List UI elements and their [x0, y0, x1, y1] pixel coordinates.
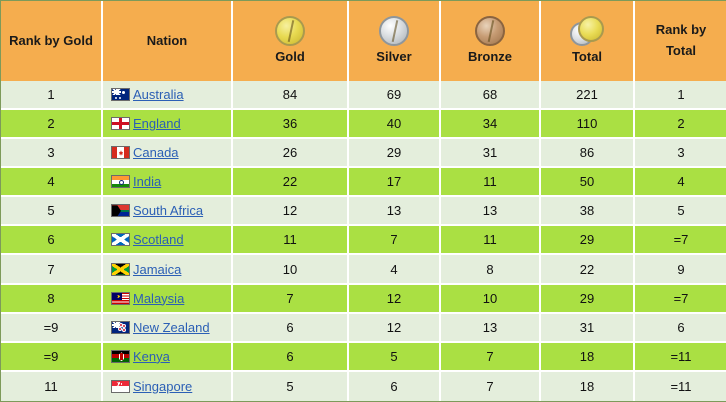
cell-total: 38	[541, 197, 635, 226]
cell-nation: South Africa	[103, 197, 233, 226]
column-header-rank-by-total-label: Rank by Total	[639, 20, 723, 62]
cell-nation: Singapore	[103, 372, 233, 401]
column-header-gold[interactable]: Gold	[233, 1, 349, 81]
table-row: 6Scotland1171129=7	[1, 226, 726, 255]
cell-rank-by-gold: 5	[1, 197, 103, 226]
column-header-nation[interactable]: Nation	[103, 1, 233, 81]
nation-link[interactable]: Jamaica	[133, 262, 181, 277]
cell-rank-by-gold: 2	[1, 110, 103, 139]
table-row: 3Canada262931863	[1, 139, 726, 168]
column-header-silver[interactable]: Silver	[349, 1, 441, 81]
cell-total: 29	[541, 226, 635, 255]
cell-bronze: 11	[441, 168, 541, 197]
cell-silver: 12	[349, 314, 441, 343]
cell-gold: 26	[233, 139, 349, 168]
cell-gold: 84	[233, 81, 349, 110]
nation-link[interactable]: New Zealand	[133, 320, 210, 335]
cell-nation: Jamaica	[103, 255, 233, 284]
cell-bronze: 7	[441, 343, 541, 372]
scotland-flag-icon	[111, 233, 130, 246]
cell-rank-by-total: =11	[635, 343, 726, 372]
cell-rank-by-gold: 4	[1, 168, 103, 197]
cell-gold: 6	[233, 343, 349, 372]
cell-silver: 5	[349, 343, 441, 372]
table-row: 7Jamaica1048229	[1, 255, 726, 284]
cell-nation: India	[103, 168, 233, 197]
cell-total: 22	[541, 255, 635, 284]
cell-silver: 6	[349, 372, 441, 401]
jamaica-flag-icon	[111, 263, 130, 276]
cell-bronze: 13	[441, 197, 541, 226]
cell-bronze: 10	[441, 285, 541, 314]
medal-table: Rank by Gold Nation Gold Silver	[0, 0, 726, 402]
cell-nation: Kenya	[103, 343, 233, 372]
cell-silver: 12	[349, 285, 441, 314]
nation-link[interactable]: India	[133, 174, 161, 189]
cell-rank-by-total: 4	[635, 168, 726, 197]
cell-bronze: 8	[441, 255, 541, 284]
cell-bronze: 31	[441, 139, 541, 168]
cell-silver: 29	[349, 139, 441, 168]
table-header: Rank by Gold Nation Gold Silver	[1, 1, 726, 81]
cell-rank-by-total: 6	[635, 314, 726, 343]
cell-nation: Canada	[103, 139, 233, 168]
cell-rank-by-gold: =9	[1, 314, 103, 343]
table-row: 5South Africa121313385	[1, 197, 726, 226]
table-row: =9New Zealand61213316	[1, 314, 726, 343]
cell-nation: New Zealand	[103, 314, 233, 343]
header-row: Rank by Gold Nation Gold Silver	[1, 1, 726, 81]
england-flag-icon	[111, 117, 130, 130]
total-medals-icon	[570, 16, 604, 46]
column-header-total[interactable]: Total	[541, 1, 635, 81]
cell-rank-by-total: 3	[635, 139, 726, 168]
cell-total: 18	[541, 343, 635, 372]
table-row: 11Singapore56718=11	[1, 372, 726, 401]
cell-rank-by-total: =11	[635, 372, 726, 401]
nation-link[interactable]: Canada	[133, 145, 179, 160]
table-row: 4India221711504	[1, 168, 726, 197]
cell-silver: 4	[349, 255, 441, 284]
nation-link[interactable]: Kenya	[133, 349, 170, 364]
table-row: 2England3640341102	[1, 110, 726, 139]
cell-gold: 7	[233, 285, 349, 314]
cell-gold: 11	[233, 226, 349, 255]
cell-gold: 10	[233, 255, 349, 284]
nation-link[interactable]: Malaysia	[133, 291, 184, 306]
column-header-bronze-label: Bronze	[468, 49, 512, 65]
cell-rank-by-total: 9	[635, 255, 726, 284]
column-header-silver-label: Silver	[376, 49, 411, 65]
table-body: 1Australia84696822112England36403411023C…	[1, 81, 726, 401]
nation-link[interactable]: England	[133, 116, 181, 131]
cell-bronze: 7	[441, 372, 541, 401]
cell-rank-by-gold: 11	[1, 372, 103, 401]
cell-rank-by-gold: 3	[1, 139, 103, 168]
kenya-flag-icon	[111, 350, 130, 363]
canada-flag-icon	[111, 146, 130, 159]
cell-bronze: 34	[441, 110, 541, 139]
cell-total: 50	[541, 168, 635, 197]
new-zealand-flag-icon	[111, 321, 130, 334]
cell-rank-by-gold: =9	[1, 343, 103, 372]
cell-rank-by-gold: 6	[1, 226, 103, 255]
cell-silver: 17	[349, 168, 441, 197]
cell-bronze: 11	[441, 226, 541, 255]
cell-rank-by-total: =7	[635, 285, 726, 314]
cell-rank-by-total: 2	[635, 110, 726, 139]
malaysia-flag-icon	[111, 292, 130, 305]
bronze-medal-icon	[475, 16, 505, 46]
cell-silver: 13	[349, 197, 441, 226]
south-africa-flag-icon	[111, 204, 130, 217]
cell-total: 110	[541, 110, 635, 139]
cell-gold: 5	[233, 372, 349, 401]
nation-link[interactable]: South Africa	[133, 203, 203, 218]
silver-medal-icon	[379, 16, 409, 46]
cell-total: 221	[541, 81, 635, 110]
cell-nation: Scotland	[103, 226, 233, 255]
column-header-bronze[interactable]: Bronze	[441, 1, 541, 81]
cell-nation: England	[103, 110, 233, 139]
cell-silver: 7	[349, 226, 441, 255]
cell-gold: 6	[233, 314, 349, 343]
cell-silver: 69	[349, 81, 441, 110]
column-header-rank-by-total[interactable]: Rank by Total	[635, 1, 726, 81]
cell-gold: 12	[233, 197, 349, 226]
table-row: 8Malaysia7121029=7	[1, 285, 726, 314]
table-row: =9Kenya65718=11	[1, 343, 726, 372]
nation-link[interactable]: Singapore	[133, 379, 192, 394]
column-header-total-label: Total	[572, 49, 602, 65]
cell-rank-by-gold: 7	[1, 255, 103, 284]
australia-flag-icon	[111, 88, 130, 101]
column-header-rank-by-gold[interactable]: Rank by Gold	[1, 1, 103, 81]
table-row: 1Australia8469682211	[1, 81, 726, 110]
cell-total: 29	[541, 285, 635, 314]
cell-rank-by-total: 1	[635, 81, 726, 110]
singapore-flag-icon	[111, 380, 130, 393]
nation-link[interactable]: Australia	[133, 87, 184, 102]
cell-bronze: 68	[441, 81, 541, 110]
cell-rank-by-gold: 1	[1, 81, 103, 110]
column-header-gold-label: Gold	[275, 49, 305, 65]
cell-nation: Australia	[103, 81, 233, 110]
cell-total: 86	[541, 139, 635, 168]
cell-total: 31	[541, 314, 635, 343]
cell-gold: 36	[233, 110, 349, 139]
cell-gold: 22	[233, 168, 349, 197]
cell-silver: 40	[349, 110, 441, 139]
cell-bronze: 13	[441, 314, 541, 343]
nation-link[interactable]: Scotland	[133, 232, 184, 247]
cell-rank-by-total: =7	[635, 226, 726, 255]
cell-nation: Malaysia	[103, 285, 233, 314]
column-header-nation-label: Nation	[107, 33, 227, 49]
cell-rank-by-gold: 8	[1, 285, 103, 314]
gold-medal-icon	[275, 16, 305, 46]
column-header-rank-by-gold-label: Rank by Gold	[5, 33, 97, 49]
india-flag-icon	[111, 175, 130, 188]
cell-rank-by-total: 5	[635, 197, 726, 226]
cell-total: 18	[541, 372, 635, 401]
